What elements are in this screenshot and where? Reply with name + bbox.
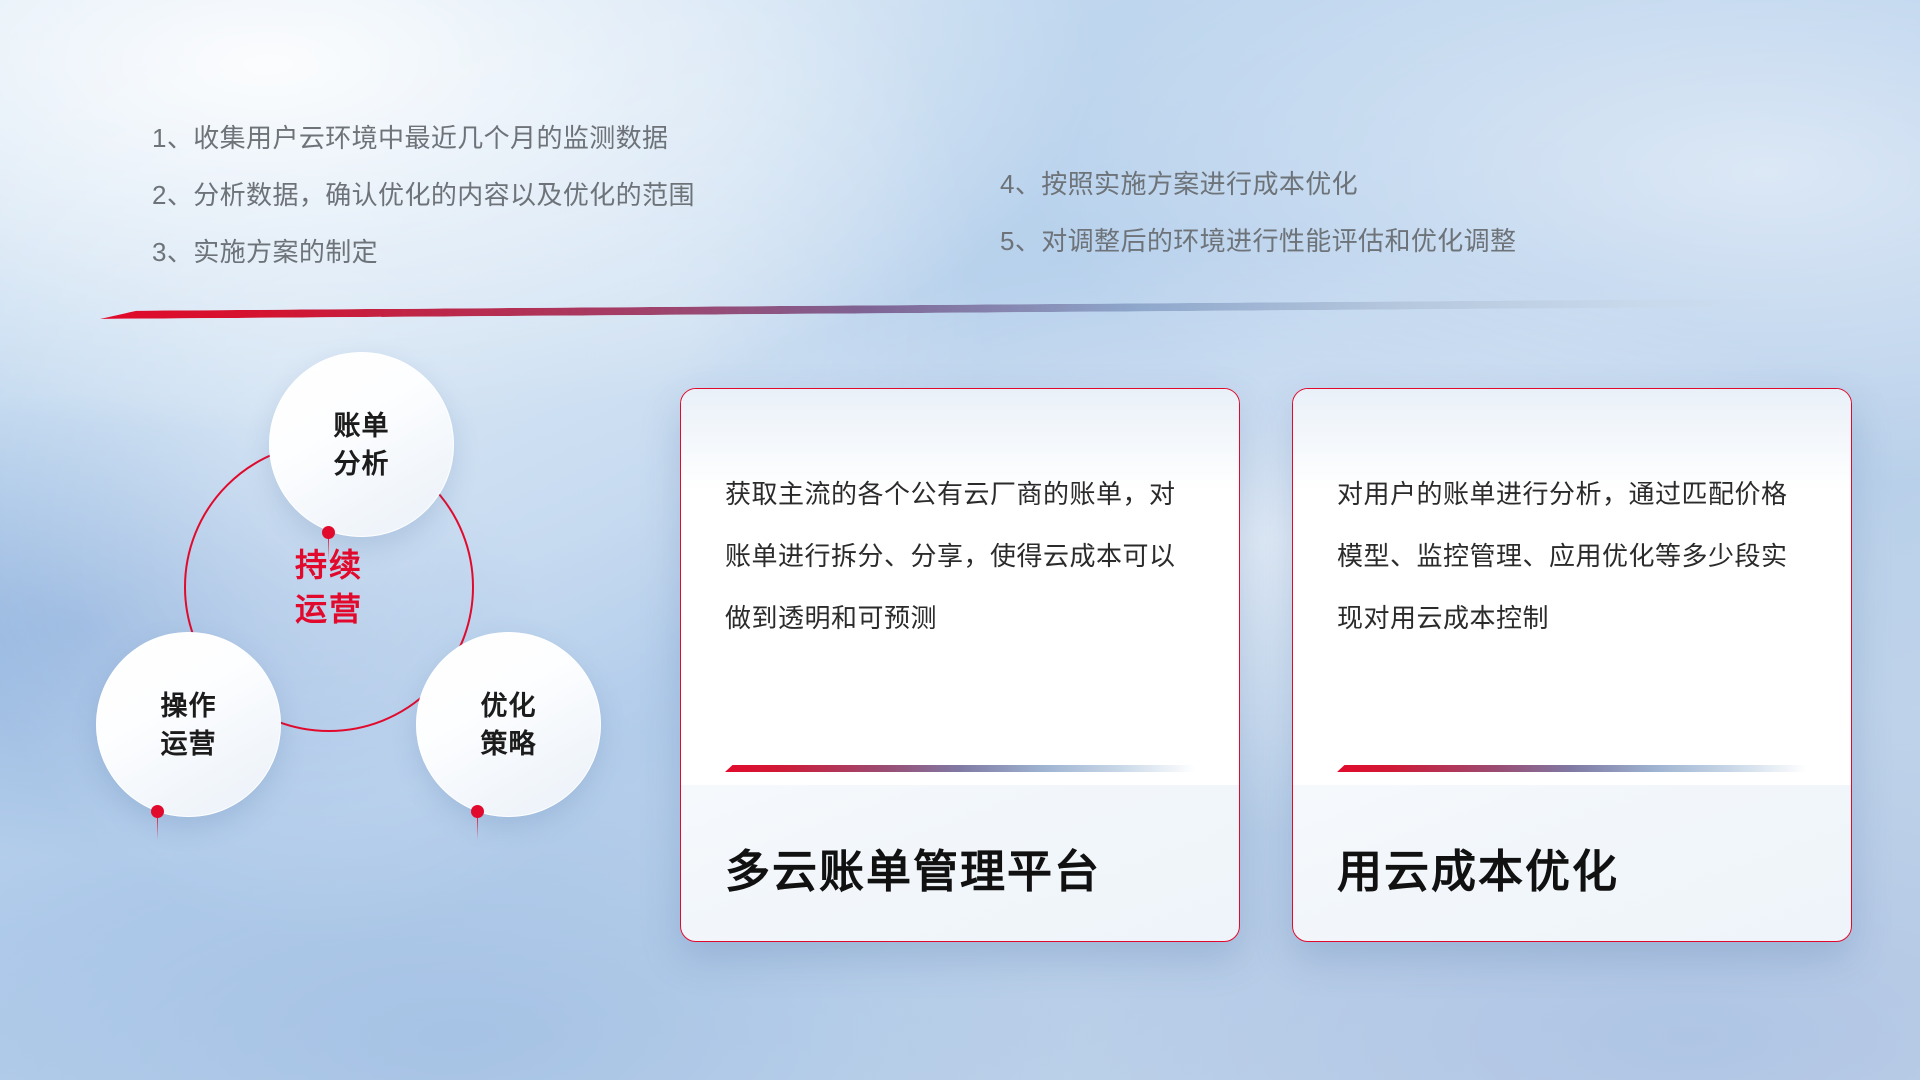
- list-item: 2、分析数据，确认优化的内容以及优化的范围: [152, 167, 695, 224]
- list-item: 5、对调整后的环境进行性能评估和优化调整: [1000, 213, 1516, 270]
- steps-list-left: 1、收集用户云环境中最近几个月的监测数据 2、分析数据，确认优化的内容以及优化的…: [152, 110, 695, 281]
- connector-dot-icon: [151, 805, 164, 818]
- node-label-line1: 账单: [334, 407, 390, 445]
- steps-list-right: 4、按照实施方案进行成本优化 5、对调整后的环境进行性能评估和优化调整: [1000, 156, 1516, 270]
- connector-dot-icon: [322, 526, 335, 539]
- list-item: 1、收集用户云环境中最近几个月的监测数据: [152, 110, 695, 167]
- card-body-text: 获取主流的各个公有云厂商的账单，对账单进行拆分、分享，使得云成本可以做到透明和可…: [725, 463, 1195, 649]
- card-content: 对用户的账单进行分析，通过匹配价格模型、监控管理、应用优化等多少段实现对用云成本…: [1293, 389, 1851, 941]
- card-content: 获取主流的各个公有云厂商的账单，对账单进行拆分、分享，使得云成本可以做到透明和可…: [681, 389, 1239, 941]
- diagram-center-label: 持续 运营: [184, 442, 474, 732]
- connector-dot-icon: [471, 805, 484, 818]
- list-item: 4、按照实施方案进行成本优化: [1000, 156, 1516, 213]
- node-label-line1: 优化: [481, 687, 537, 725]
- feature-card-multi-cloud-billing[interactable]: 获取主流的各个公有云厂商的账单，对账单进行拆分、分享，使得云成本可以做到透明和可…: [680, 388, 1240, 942]
- continuous-operations-diagram: 持续 运营 账单 分析 操作 运营 优化 策略: [96, 352, 656, 972]
- list-item: 3、实施方案的制定: [152, 224, 695, 281]
- feature-card-cloud-cost-optimization[interactable]: 对用户的账单进行分析，通过匹配价格模型、监控管理、应用优化等多少段实现对用云成本…: [1292, 388, 1852, 942]
- card-body-text: 对用户的账单进行分析，通过匹配价格模型、监控管理、应用优化等多少段实现对用云成本…: [1337, 463, 1807, 649]
- center-label-line2: 运营: [295, 587, 363, 631]
- node-label-line2: 策略: [481, 725, 537, 763]
